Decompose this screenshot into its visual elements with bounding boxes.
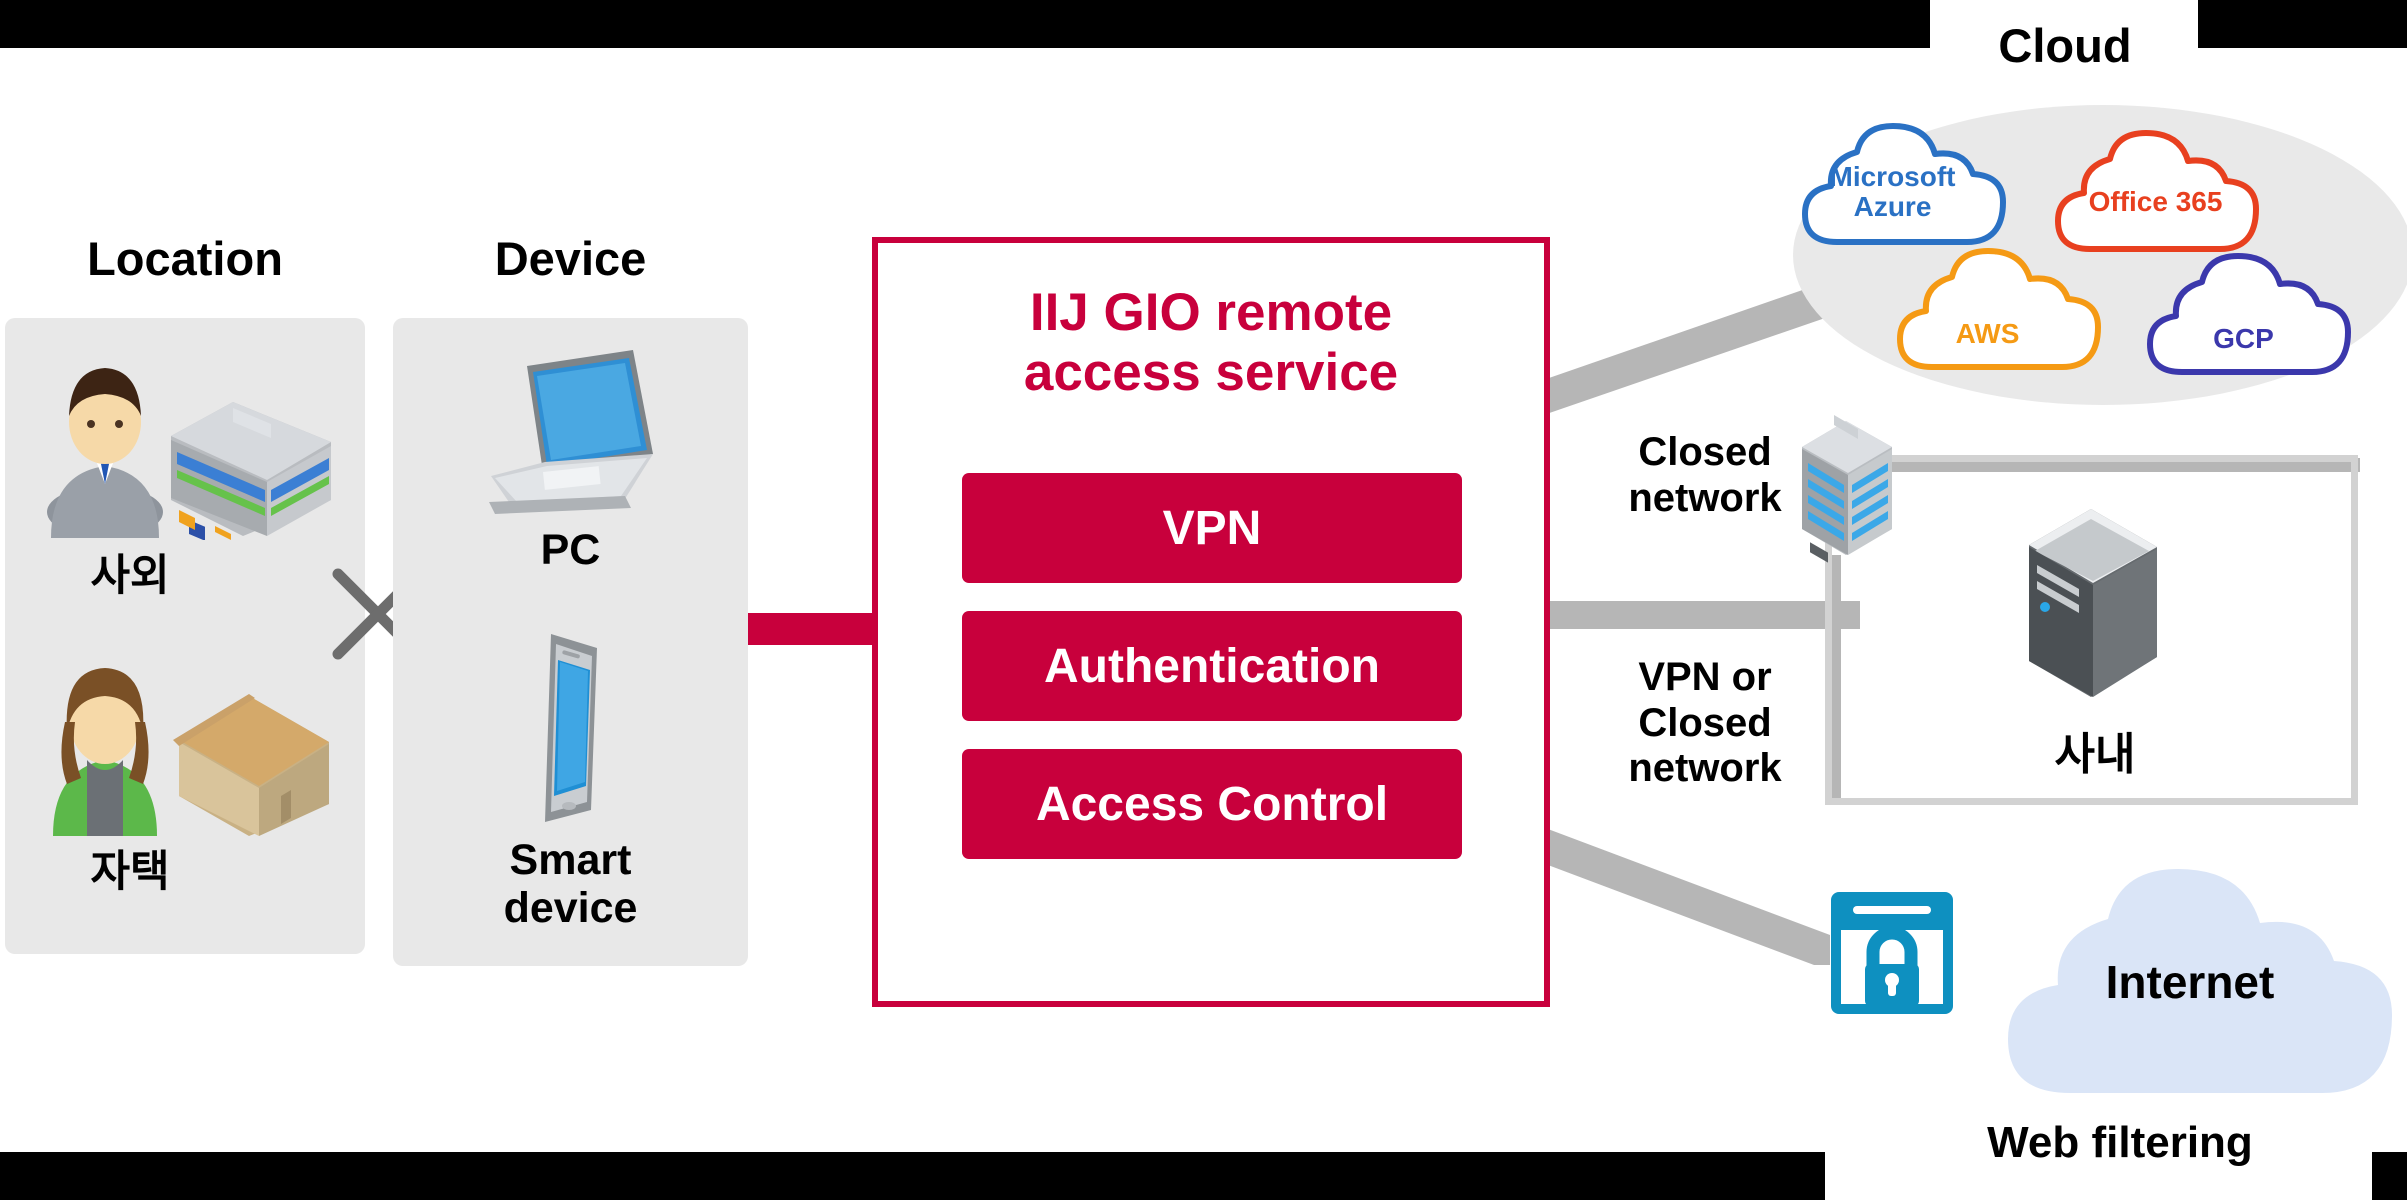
businessman-and-train-icon bbox=[43, 340, 333, 540]
intranet-label: 사내 bbox=[1960, 718, 2230, 782]
list-item-label: 사외 bbox=[5, 552, 255, 600]
diagram-canvas: Location Device bbox=[0, 0, 2407, 1200]
server-tower-icon bbox=[2019, 497, 2167, 709]
list-item-label: PC bbox=[393, 526, 748, 574]
connector-service-to-intranet bbox=[1500, 601, 1860, 629]
feature-vpn[interactable]: VPN bbox=[962, 473, 1462, 583]
list-item[interactable]: 사외 bbox=[5, 340, 365, 640]
letterbox-top-right-bar bbox=[2198, 0, 2407, 48]
list-item[interactable]: Smart device bbox=[393, 626, 748, 946]
service-box[interactable]: IIJ GIO remote access service VPN Authen… bbox=[872, 237, 1550, 1007]
cloud-provider-label: Microsoft Azure bbox=[1795, 162, 1990, 222]
letterbox-top-bar bbox=[0, 0, 1930, 48]
feature-access-control[interactable]: Access Control bbox=[962, 749, 1462, 859]
cloud-provider-label: AWS bbox=[1890, 319, 2085, 349]
internet-label: Internet bbox=[2040, 955, 2340, 1009]
laptop-pc-icon bbox=[471, 336, 671, 516]
network-label-lower: VPN or Closed network bbox=[1570, 655, 1840, 792]
cloud-provider-aws[interactable]: AWS bbox=[1890, 243, 2140, 375]
cloud-provider-azure[interactable]: Microsoft Azure bbox=[1795, 118, 2045, 250]
smartphone-icon bbox=[511, 626, 631, 826]
page-title: IIJ GIO remote access service bbox=[878, 283, 1544, 404]
list-item[interactable]: 자택 bbox=[5, 636, 365, 936]
cloud-heading: Cloud bbox=[1935, 20, 2195, 72]
location-panel[interactable]: 사외 bbox=[5, 318, 365, 954]
office-building-icon bbox=[1794, 405, 1899, 565]
cloud-provider-office365[interactable]: Office 365 bbox=[2048, 125, 2298, 257]
web-filtering-caption: Web filtering bbox=[1890, 1118, 2350, 1168]
cloud-provider-gcp[interactable]: GCP bbox=[2140, 248, 2390, 380]
cloud-provider-label: GCP bbox=[2146, 324, 2341, 354]
letterbox-bottom-right-bar bbox=[2372, 1152, 2407, 1200]
location-heading: Location bbox=[5, 233, 365, 285]
cloud-icon bbox=[1890, 243, 2140, 375]
cloud-icon bbox=[2140, 248, 2390, 380]
list-item[interactable]: PC bbox=[393, 336, 748, 626]
browser-lock-icon bbox=[1827, 888, 1957, 1018]
device-panel[interactable]: PC Smart device bbox=[393, 318, 748, 966]
connector-device-to-service bbox=[746, 613, 881, 645]
letterbox-bottom-bar bbox=[0, 1152, 1825, 1200]
feature-authentication[interactable]: Authentication bbox=[962, 611, 1462, 721]
list-item-label: Smart device bbox=[393, 836, 748, 932]
device-heading: Device bbox=[393, 233, 748, 285]
woman-and-house-icon bbox=[43, 636, 333, 836]
list-item-label: 자택 bbox=[5, 848, 255, 896]
cloud-provider-label: Office 365 bbox=[2058, 187, 2253, 217]
